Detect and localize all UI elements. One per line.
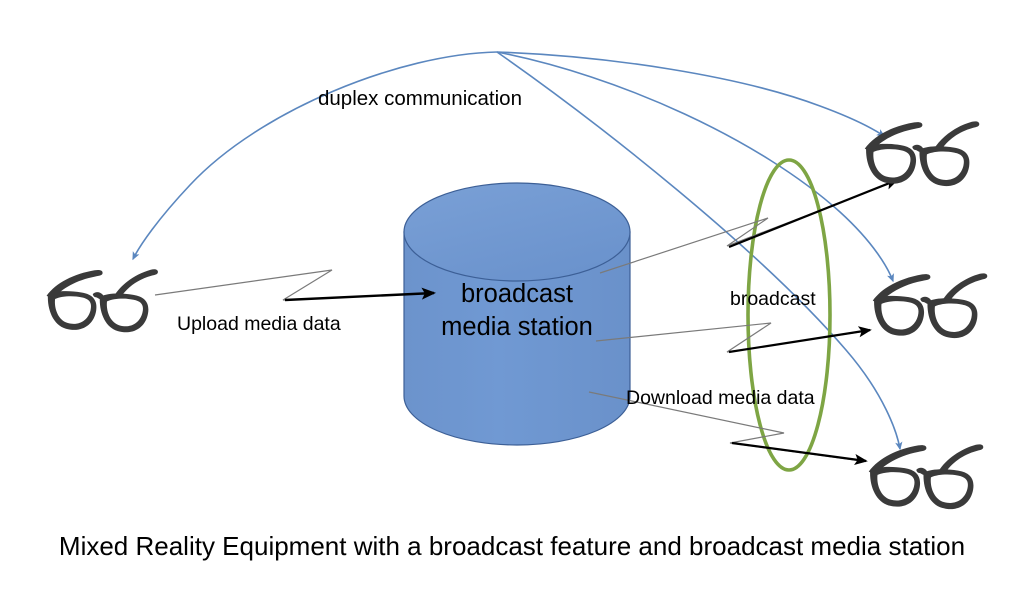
station-label-line-2: media station bbox=[404, 311, 630, 344]
label-duplex-communication: duplex communication bbox=[318, 87, 522, 111]
label-download-media-data: Download media data bbox=[626, 387, 815, 409]
broadcast-zone-ellipse bbox=[748, 160, 830, 470]
diagram-caption: Mixed Reality Equipment with a broadcast… bbox=[0, 531, 1024, 562]
broadcast-media-station-label: broadcast media station bbox=[404, 278, 630, 343]
label-broadcast-zone: broadcast bbox=[730, 288, 816, 310]
label-upload-media-data: Upload media data bbox=[177, 313, 341, 335]
connector-download-top bbox=[600, 180, 897, 273]
device-mre-right-bottom[interactable] bbox=[868, 443, 986, 512]
diagram-canvas: duplex communication Upload media data b… bbox=[0, 0, 1024, 592]
device-mre-left[interactable] bbox=[46, 268, 160, 335]
device-mre-right-middle[interactable] bbox=[872, 272, 990, 341]
device-mre-right-top[interactable] bbox=[864, 120, 982, 189]
connector-upload bbox=[155, 270, 434, 300]
station-label-line-1: broadcast bbox=[404, 278, 630, 311]
